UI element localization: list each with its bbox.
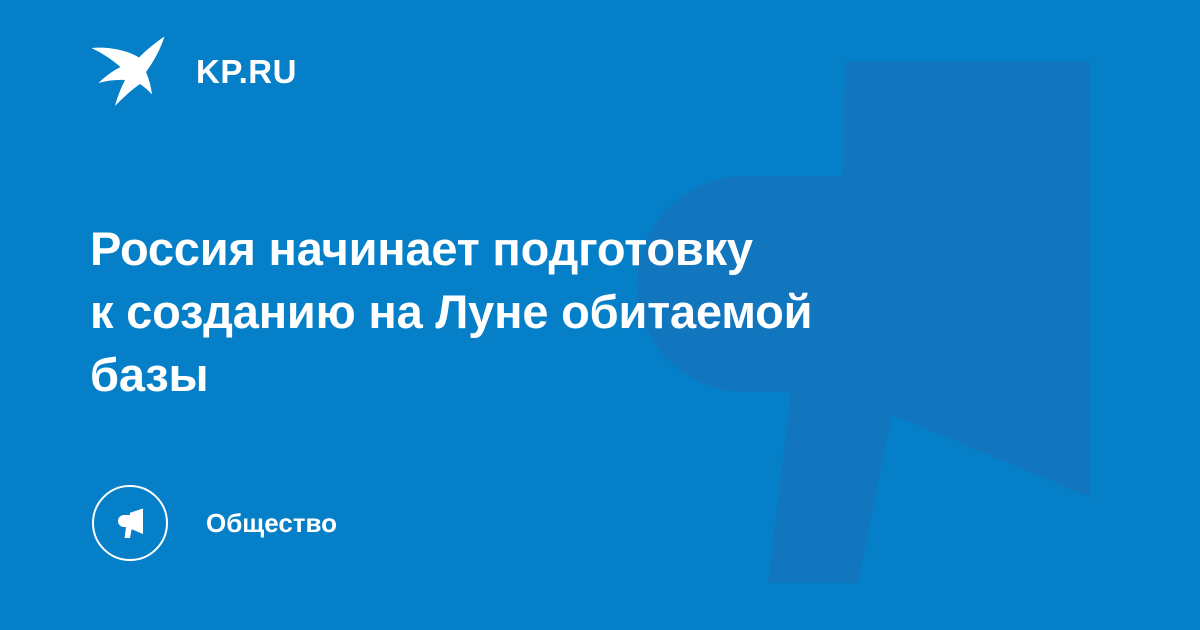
megaphone-icon — [110, 503, 150, 543]
social-share-card: KP.RU Россия начинает подготовку к созда… — [0, 0, 1200, 630]
swallow-bird-icon — [90, 35, 166, 107]
headline-line-1: Россия начинает подготовку — [90, 217, 1050, 280]
category-label: Общество — [206, 510, 337, 536]
brand-logo[interactable]: KP.RU — [90, 34, 297, 108]
headline: Россия начинает подготовку к созданию на… — [90, 217, 1050, 406]
category-icon-ring — [92, 485, 168, 561]
brand-name: KP.RU — [196, 55, 297, 88]
category-badge[interactable]: Общество — [92, 482, 337, 564]
headline-line-2: к созданию на Луне обитаемой — [90, 280, 1050, 343]
headline-line-3: базы — [90, 343, 1050, 406]
